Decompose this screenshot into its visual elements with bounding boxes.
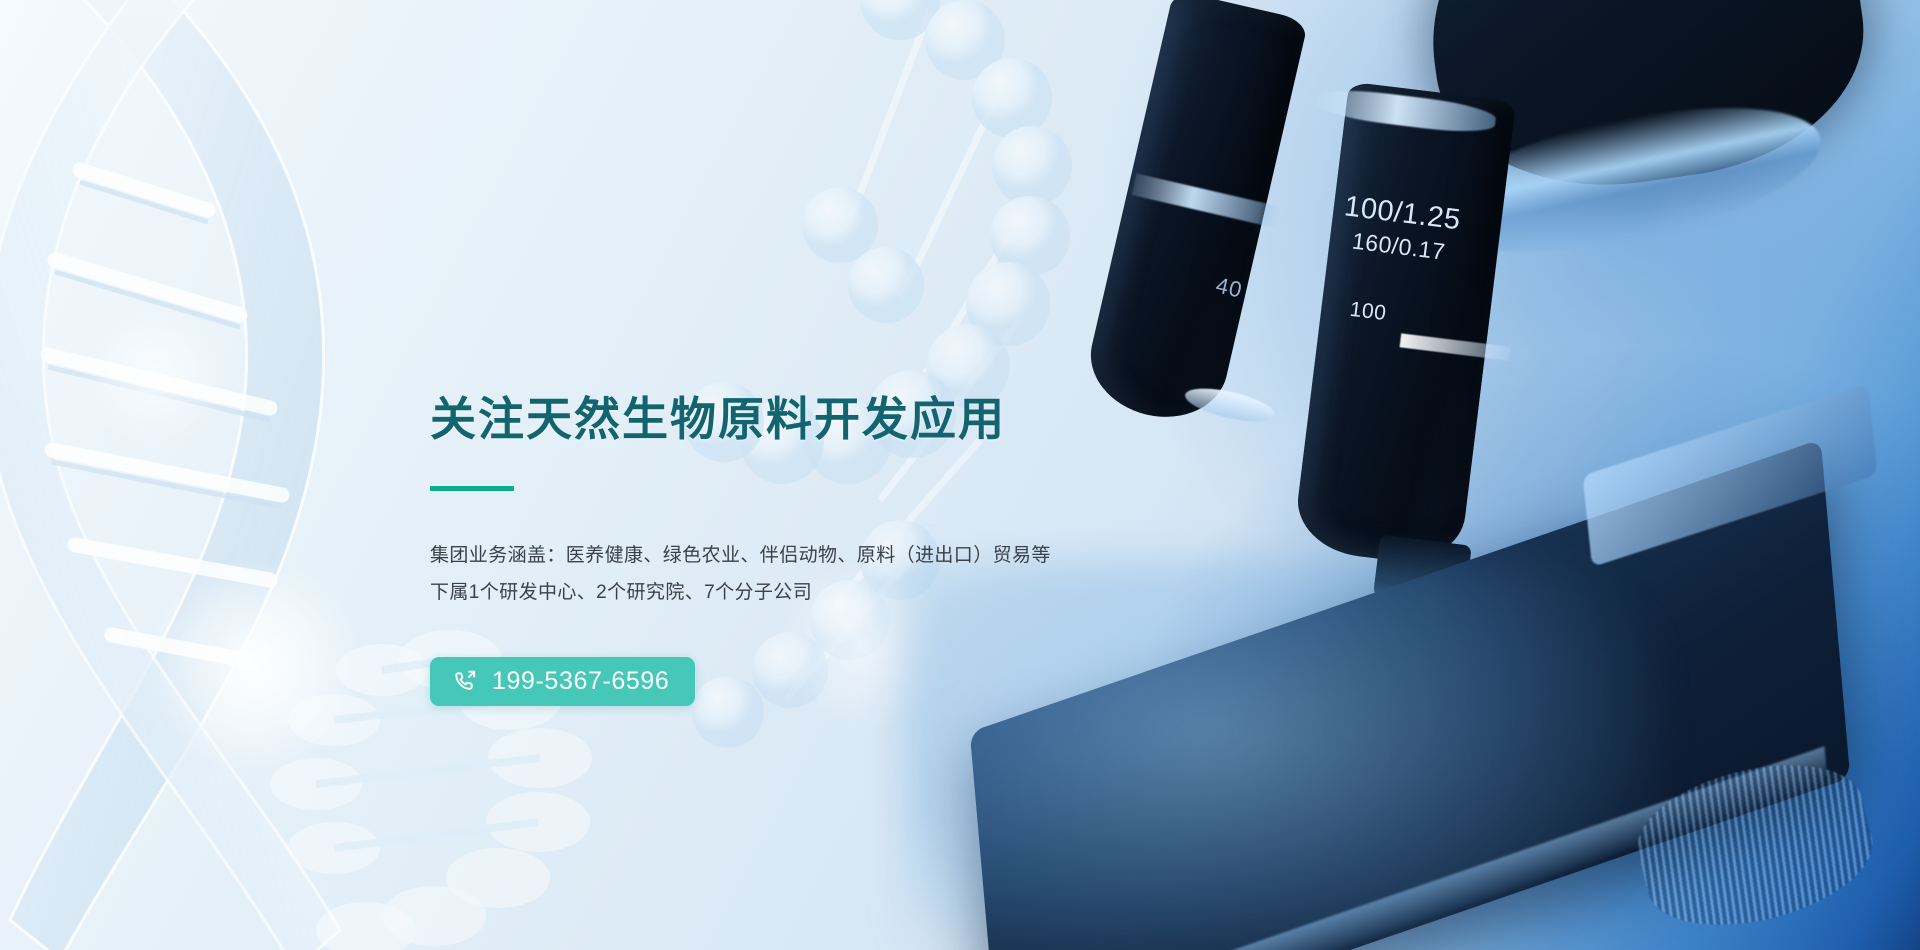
hero-content: 关注天然生物原料开发应用 集团业务涵盖：医养健康、绿色农业、伴侣动物、原料（进出… [430, 392, 1190, 706]
bokeh-light [150, 560, 360, 770]
microscope-objective-100x [1292, 82, 1516, 569]
description-line-1: 集团业务涵盖：医养健康、绿色农业、伴侣动物、原料（进出口）贸易等 [430, 537, 1190, 574]
microscope-nosepiece [1409, 0, 1881, 208]
scope-glow [1080, 0, 1920, 700]
objective-highlight-band [1131, 173, 1282, 228]
microscope-objective-40x [1080, 0, 1309, 430]
objective-engraving-magnification: 100 [1348, 297, 1449, 335]
hero-banner: 40 100/1.25 160/0.17 100 关注天然生物原料开发应用 集团… [0, 0, 1920, 950]
microscope-focus-knob [1625, 744, 1884, 945]
objective-tip [1372, 535, 1472, 614]
microscope-stage-edge [992, 746, 1827, 950]
objective-engraving-tube: 160/0.17 [1351, 227, 1459, 268]
objective-engraving-aperture: 100/1.25 [1342, 189, 1462, 239]
page-title: 关注天然生物原料开发应用 [430, 392, 1190, 446]
objective-front-lens [1182, 382, 1277, 428]
phone-forward-icon [452, 668, 479, 695]
title-divider [430, 486, 514, 491]
microscope-stage-clip [1583, 383, 1878, 567]
hero-description: 集团业务涵盖：医养健康、绿色农业、伴侣动物、原料（进出口）贸易等 下属1个研发中… [430, 537, 1190, 611]
objective-colour-band [1400, 333, 1511, 360]
objective-engraving-group: 100/1.25 160/0.17 100 [1330, 189, 1462, 335]
bokeh-light [80, 300, 230, 450]
description-line-2: 下属1个研发中心、2个研究院、7个分子公司 [430, 574, 1190, 611]
microscope-nosepiece-ring [1417, 80, 1833, 281]
objective-ring-highlight [1315, 85, 1497, 137]
phone-number-label: 199-5367-6596 [492, 669, 669, 694]
scope-glow-lower [1140, 350, 1920, 950]
call-phone-button[interactable]: 199-5367-6596 [430, 657, 695, 706]
objective-40-engraving: 40 [1213, 272, 1245, 303]
